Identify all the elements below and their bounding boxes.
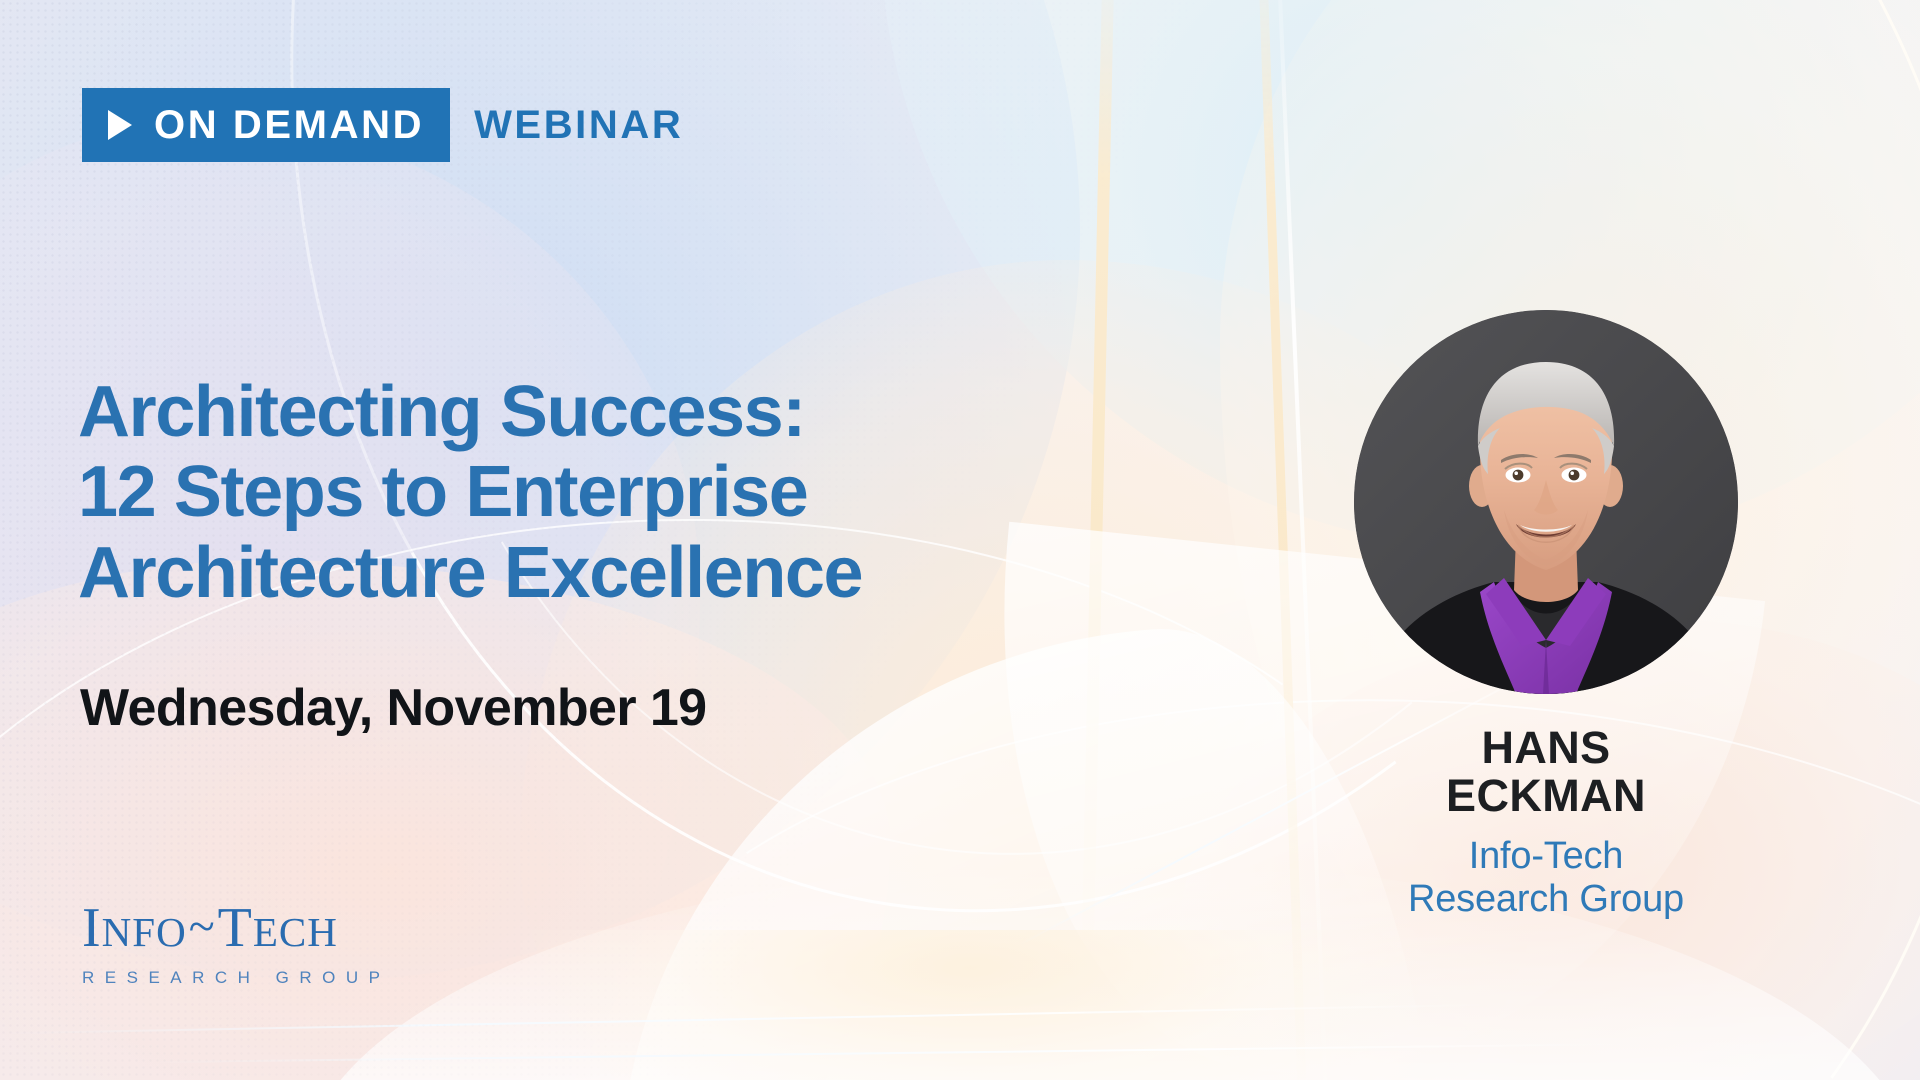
promo-content: ON DEMAND WEBINAR Architecting Success: …	[0, 0, 1920, 1080]
page-title-line-3: Architecture Excellence	[78, 533, 862, 613]
webinar-label: WEBINAR	[450, 88, 683, 162]
speaker-organization: Info-Tech Research Group	[1354, 835, 1738, 920]
event-date: Wednesday, November 19	[80, 678, 706, 738]
page-title-line-2: 12 Steps to Enterprise	[78, 452, 862, 532]
speaker-block: HANS ECKMAN Info-Tech Research Group	[1354, 310, 1738, 920]
eyebrow-row: ON DEMAND WEBINAR	[82, 88, 683, 162]
speaker-org-line-2: Research Group	[1354, 878, 1738, 921]
logo-letter-t: T	[218, 897, 253, 959]
speaker-first-name: HANS	[1354, 724, 1738, 772]
logo-letters-nfo: NFO	[102, 909, 187, 955]
speaker-last-name: ECKMAN	[1354, 772, 1738, 820]
avatar-portrait-illustration	[1354, 310, 1738, 694]
logo-letter-i: I	[82, 897, 102, 959]
speaker-org-line-1: Info-Tech	[1354, 835, 1738, 878]
logo-tilde-glyph: ~	[187, 900, 218, 953]
page-title-line-1: Architecting Success:	[78, 372, 862, 452]
logo-letters-ech: ECH	[253, 909, 338, 955]
info-tech-tagline: RESEARCH GROUP	[82, 968, 391, 988]
speaker-name: HANS ECKMAN	[1354, 724, 1738, 819]
on-demand-badge: ON DEMAND	[82, 88, 450, 162]
on-demand-badge-label: ON DEMAND	[154, 105, 424, 145]
play-triangle-icon	[108, 110, 132, 140]
info-tech-logo: INFO~TECH RESEARCH GROUP	[82, 900, 391, 988]
info-tech-wordmark: INFO~TECH	[82, 900, 391, 956]
promo-banner-stage: ON DEMAND WEBINAR Architecting Success: …	[0, 0, 1920, 1080]
page-title: Architecting Success: 12 Steps to Enterp…	[78, 372, 862, 613]
avatar	[1354, 310, 1738, 694]
